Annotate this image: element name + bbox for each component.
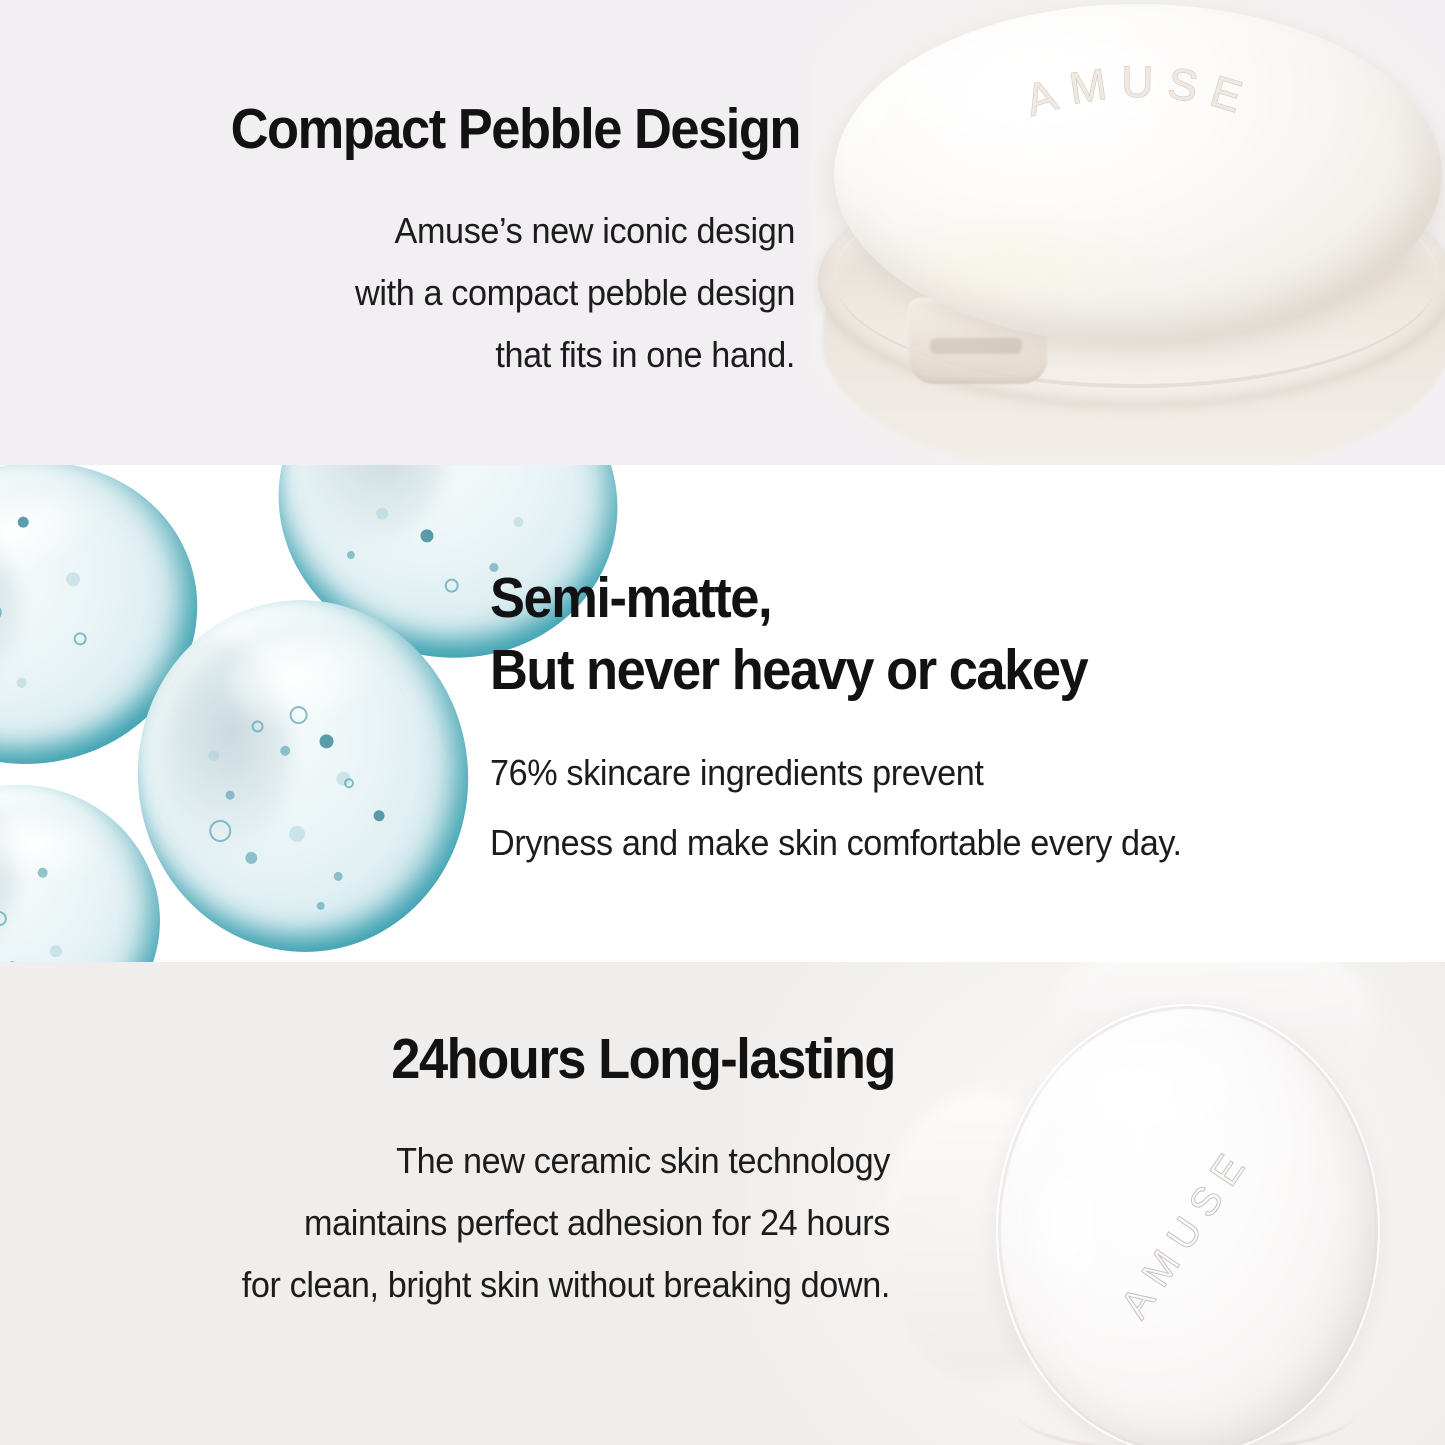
panel2-body: 76% skincare ingredients prevent Dryness… bbox=[490, 738, 1350, 878]
product-image-translucent-compact: AMUSE bbox=[880, 972, 1445, 1445]
panel1-body-line-3: that fits in one hand. bbox=[40, 324, 795, 386]
translucent-lid-lip bbox=[1016, 1370, 1356, 1445]
panel3-heading: 24hours Long-lasting bbox=[72, 1030, 895, 1090]
panel1-body: Amuse’s new iconic design with a compact… bbox=[40, 200, 795, 386]
panel1-heading: Compact Pebble Design bbox=[64, 100, 800, 160]
panel2-body-line-1: 76% skincare ingredients prevent bbox=[490, 738, 1350, 808]
panel2-heading: Semi-matte, But never heavy or cakey bbox=[490, 563, 1318, 707]
amuse-logo-text: AMUSE bbox=[1020, 58, 1259, 126]
amuse-logo-embossed: AMUSE bbox=[960, 56, 1320, 216]
panel2-body-line-2: Dryness and make skin comfortable every … bbox=[490, 808, 1350, 878]
product-image-white-compact: AMUSE bbox=[800, 0, 1445, 465]
panel3-body-line-3: for clean, bright skin without breaking … bbox=[45, 1254, 891, 1316]
panel3-body-line-2: maintains perfect adhesion for 24 hours bbox=[45, 1192, 891, 1254]
svg-text:AMUSE: AMUSE bbox=[1020, 58, 1259, 126]
panel1-body-line-2: with a compact pebble design bbox=[40, 262, 795, 324]
panel3-body: The new ceramic skin technology maintain… bbox=[45, 1130, 891, 1316]
lid-shadow bbox=[862, 210, 1162, 320]
panel2-heading-line-1: Semi-matte, bbox=[490, 563, 1318, 635]
panel-long-lasting: AMUSE 24hours Long-lasting The new ceram… bbox=[0, 962, 1445, 1445]
panel3-body-line-1: The new ceramic skin technology bbox=[45, 1130, 891, 1192]
panel2-heading-line-2: But never heavy or cakey bbox=[490, 635, 1318, 707]
panel1-body-line-1: Amuse’s new iconic design bbox=[40, 200, 795, 262]
panel-semi-matte: Semi-matte, But never heavy or cakey 76%… bbox=[0, 465, 1445, 962]
panel-compact-pebble-design: AMUSE Compact Pebble Design Amuse’s new … bbox=[0, 0, 1445, 465]
product-feature-page: AMUSE Compact Pebble Design Amuse’s new … bbox=[0, 0, 1445, 1445]
